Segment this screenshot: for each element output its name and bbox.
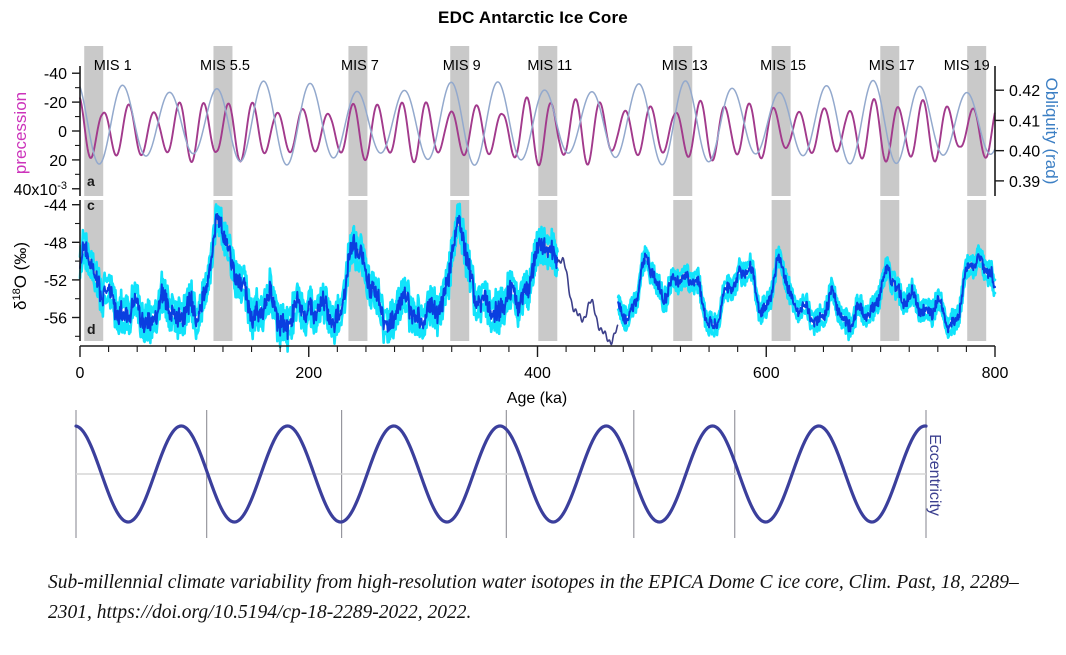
panel-letter-a: a bbox=[87, 173, 95, 189]
svg-text:δ18O (‰): δ18O (‰) bbox=[11, 242, 30, 310]
x-axis-tick-label: 800 bbox=[982, 365, 1009, 382]
obliquity-tick-label: 0.42 bbox=[1009, 83, 1040, 100]
d18o-tick-label: -52 bbox=[44, 273, 67, 290]
eccentricity-axis-title: Eccentricity bbox=[926, 434, 943, 516]
panel-d18o: -44-48-52-56 c d bbox=[44, 197, 995, 352]
x-axis-tick-label: 400 bbox=[524, 365, 551, 382]
obliquity-tick-label: 0.41 bbox=[1009, 113, 1040, 130]
x-axis-label: Age (ka) bbox=[507, 390, 567, 407]
obliquity-tick-labels: 0.420.410.400.39 bbox=[1009, 83, 1040, 191]
d18o-superscript: 18 bbox=[11, 288, 23, 300]
precession-tick-label: -40 bbox=[44, 66, 67, 83]
precession-ticks bbox=[72, 73, 80, 189]
figure-caption: Sub-millennial climate variability from … bbox=[48, 568, 1024, 628]
x-axis-tick-label: 600 bbox=[753, 365, 780, 382]
precession-axis-title: precession bbox=[11, 92, 30, 174]
d18o-unit: O (‰) bbox=[11, 242, 30, 288]
d18o-ticks bbox=[72, 205, 80, 337]
mis-label: MIS 17 bbox=[869, 58, 915, 74]
mis-label: MIS 11 bbox=[527, 58, 572, 74]
d18o-lowres-tail bbox=[558, 258, 617, 345]
mis-label: MIS 7 bbox=[341, 58, 379, 74]
mis-label: MIS 19 bbox=[944, 58, 990, 74]
mis-labels: MIS 1MIS 5.5MIS 7MIS 9MIS 11MIS 13MIS 15… bbox=[94, 58, 990, 74]
precession-tick-label: 40x10-3 bbox=[14, 180, 67, 199]
obliquity-ticks bbox=[995, 90, 1004, 181]
x-axis: 0200400600800 Age (ka) bbox=[76, 346, 1009, 407]
d18o-tick-label: -56 bbox=[44, 311, 67, 328]
x-axis-ticks bbox=[80, 346, 995, 357]
obliquity-tick-label: 0.39 bbox=[1009, 174, 1040, 191]
obliquity-axis-title: Obliquity (rad) bbox=[1042, 78, 1061, 185]
precession-tick-label: -20 bbox=[44, 95, 67, 112]
mis-label: MIS 9 bbox=[443, 58, 481, 74]
d18o-tick-label: -44 bbox=[44, 198, 67, 215]
panel-letter-d: d bbox=[87, 321, 96, 337]
mis-label: MIS 5.5 bbox=[200, 58, 250, 74]
mis-label: MIS 13 bbox=[662, 58, 708, 74]
d18o-tick-label: -48 bbox=[44, 235, 67, 252]
panel-eccentricity bbox=[76, 410, 926, 538]
x-axis-tick-label: 0 bbox=[76, 365, 85, 382]
d18o-delta: δ bbox=[11, 301, 30, 310]
figure-svg: -40-2002040x10-3 0.420.410.400.39 a -44-… bbox=[0, 0, 1066, 655]
x-axis-tick-label: 200 bbox=[295, 365, 322, 382]
x-axis-tick-labels: 0200400600800 bbox=[76, 365, 1009, 382]
obliquity-tick-label: 0.40 bbox=[1009, 144, 1040, 161]
figure-container: EDC Antarctic Ice Core -40-2002040x10-3 … bbox=[0, 0, 1066, 655]
precession-tick-label: 20 bbox=[49, 153, 67, 170]
mis-label: MIS 1 bbox=[94, 58, 132, 74]
panel-letter-c: c bbox=[87, 197, 95, 213]
d18o-axis-title: δ18O (‰) bbox=[11, 242, 30, 310]
precession-tick-label: 0 bbox=[58, 124, 67, 141]
mis-label: MIS 15 bbox=[760, 58, 806, 74]
d18o-tick-labels: -44-48-52-56 bbox=[44, 198, 67, 328]
